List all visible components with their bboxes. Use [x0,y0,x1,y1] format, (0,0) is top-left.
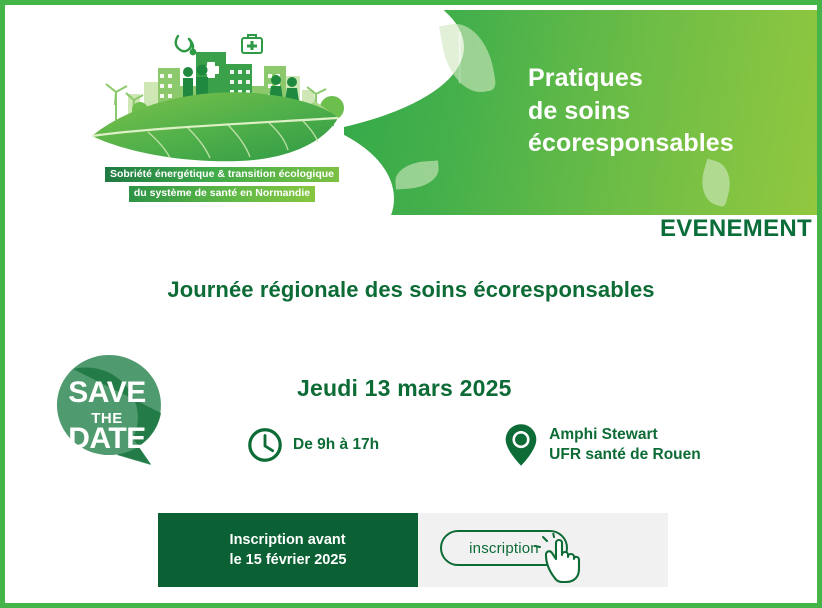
logo-tagline-line-2: du système de santé en Normandie [129,186,315,201]
banner-title: Pratiques de soins écoresponsables [528,62,734,160]
registration-deadline-text: Inscription avant le 15 février 2025 [230,530,347,570]
inscription-button-label: inscription [469,540,539,557]
registration-deadline-line-1: Inscription avant [230,530,347,550]
pointing-hand-cursor-icon [534,533,598,585]
event-location-line-2: UFR santé de Rouen [549,446,701,463]
leaf-city-healthcare-illustration [88,24,356,164]
save-the-date-line-3: DATE [68,422,145,455]
logo-tagline: Sobriété énergétique & transition écolog… [94,164,350,203]
registration-deadline-panel: Inscription avant le 15 février 2025 [158,513,418,587]
event-location: Amphi Stewart UFR santé de Rouen [499,419,701,471]
leaf-icon [439,19,497,98]
event-location-line-1: Amphi Stewart [549,426,658,443]
leaf-icon [696,159,736,208]
category-label: EVENEMENT [660,215,812,243]
registration-bar: Inscription avant le 15 février 2025 ins… [158,513,668,587]
map-pin-icon [499,419,543,471]
event-details-row: De 9h à 17h Amphi Stewart UFR santé de R… [243,419,701,471]
save-the-date-line-1: SAVE [68,376,145,409]
poster-header: Pratiques de soins écoresponsables [10,10,822,215]
leaf-icon [394,160,440,189]
registration-deadline-line-2: le 15 février 2025 [230,550,347,570]
header-banner: Pratiques de soins écoresponsables [344,10,822,215]
banner-title-line-2: de soins [528,95,734,128]
event-poster: Pratiques de soins écoresponsables [0,0,822,608]
event-time: De 9h à 17h [243,419,379,471]
event-location-label: Amphi Stewart UFR santé de Rouen [543,425,701,464]
clock-icon [243,419,287,471]
logo-tagline-line-1: Sobriété énergétique & transition écolog… [105,167,339,182]
page-title: Journée régionale des soins écoresponsab… [5,277,817,303]
organization-logo: Sobriété énergétique & transition écolog… [88,24,356,206]
event-time-label: De 9h à 17h [287,435,379,455]
registration-cta-panel: inscription [418,513,668,587]
event-date: Jeudi 13 mars 2025 [297,375,512,402]
save-the-date-badge: SAVE THE DATE [55,353,163,471]
banner-title-line-3: écoresponsables [528,127,734,160]
banner-title-line-1: Pratiques [528,62,734,95]
